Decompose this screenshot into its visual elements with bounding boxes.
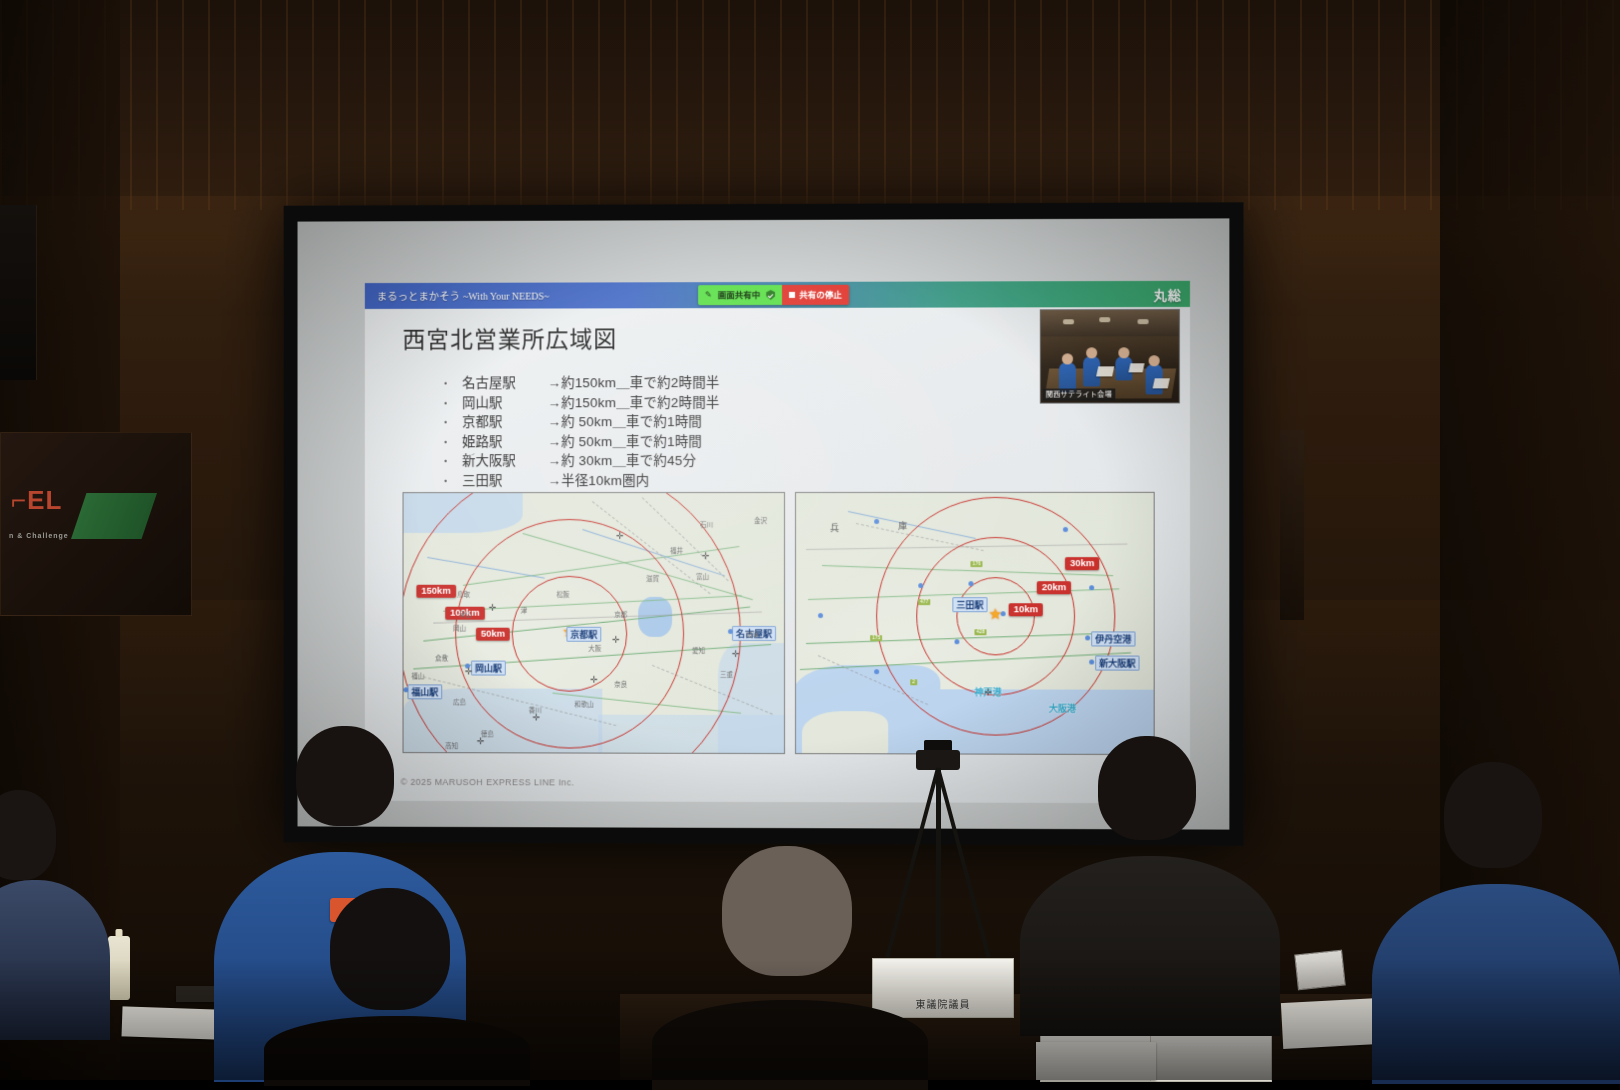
bullet-term: 京都駅 bbox=[462, 413, 547, 431]
bullet-term: 新大阪駅 bbox=[462, 452, 547, 470]
bullet-marker: ・ bbox=[440, 435, 462, 452]
stop-square-icon bbox=[789, 292, 795, 298]
brand-tagline-jp: まるっとまかそう bbox=[377, 290, 460, 302]
poster-logo-icon: ⌐EL bbox=[11, 485, 62, 516]
airport-icon: ✛ bbox=[533, 715, 541, 722]
shoulders-silhouette bbox=[1020, 856, 1280, 1036]
pip-venue-caption: 関西サテライト会場 bbox=[1043, 388, 1115, 400]
pref-label: 福井 bbox=[670, 545, 683, 555]
list-item: ・ 京都駅 →約 50km＿車で約1時間 bbox=[440, 413, 1060, 433]
local-area-map[interactable]: ★ 30km 20km 10km 三田駅 新大阪駅 伊丹空港 神戸港 大阪港 兵… bbox=[795, 492, 1155, 755]
brand-tagline: まるっとまかそう ~With Your NEEDS~ bbox=[377, 288, 550, 303]
pref-label: 愛知 bbox=[692, 645, 705, 655]
bullet-desc: →約 30km＿車で約45分 bbox=[548, 452, 697, 470]
name-placard-text: 東議院議員 bbox=[916, 996, 971, 1011]
airport-icon: ✛ bbox=[612, 637, 620, 644]
station-dot bbox=[1089, 660, 1094, 665]
presentation-slide: まるっとまかそう ~With Your NEEDS~ ✎ 画面共有中 共有の停止… bbox=[365, 281, 1190, 804]
pref-label: 庫 bbox=[898, 519, 907, 532]
pref-label: 岡山 bbox=[453, 623, 466, 633]
map-poi bbox=[918, 583, 923, 588]
poster-subtext: n & Challenge bbox=[9, 533, 69, 540]
bullet-desc: →半径10km圏内 bbox=[548, 472, 650, 490]
airport-icon: ✛ bbox=[985, 689, 993, 696]
tripod-leg bbox=[885, 767, 940, 957]
pref-label: 鳥取 bbox=[457, 589, 470, 599]
ring-label-10km: 10km bbox=[1009, 603, 1044, 616]
pref-label: 津山 bbox=[459, 609, 472, 619]
share-status-badge[interactable]: ✎ 画面共有中 bbox=[698, 285, 782, 305]
shoulders-silhouette bbox=[652, 1000, 928, 1090]
airport-icon: ✛ bbox=[702, 553, 710, 560]
map-poi bbox=[954, 639, 959, 644]
station-tag-okayama: 岡山駅 bbox=[471, 661, 506, 676]
bullet-marker: ・ bbox=[440, 396, 462, 413]
bullet-desc: →約 50km＿車で約1時間 bbox=[548, 433, 703, 451]
map-poi bbox=[874, 669, 879, 674]
station-tag-fukuyama: 福山駅 bbox=[407, 684, 442, 699]
pref-label: 大阪 bbox=[588, 643, 601, 653]
pref-label: 三重 bbox=[720, 669, 733, 679]
port-label-osaka: 大阪港 bbox=[1049, 702, 1076, 715]
distance-bullet-list: ・ 名古屋駅 →約150km＿車で約2時間半 ・ 岡山駅 →約150km＿車で約… bbox=[440, 373, 1060, 510]
list-item: ・ 姫路駅 →約 50km＿車で約1時間 bbox=[440, 432, 1060, 452]
route-badge: 175 bbox=[870, 635, 882, 641]
map-poi bbox=[1089, 585, 1094, 590]
route-badge: 176 bbox=[970, 561, 982, 567]
bullet-marker: ・ bbox=[440, 474, 462, 491]
pref-label: 兵 bbox=[830, 521, 839, 534]
document-papers bbox=[122, 1006, 219, 1039]
map-poi bbox=[968, 581, 973, 586]
airport-icon: ✛ bbox=[465, 669, 472, 676]
pref-label: 奈良 bbox=[614, 679, 627, 689]
ceiling-speaker bbox=[0, 205, 37, 380]
bullet-term: 姫路駅 bbox=[462, 433, 547, 451]
bullet-marker: ・ bbox=[440, 454, 462, 471]
pref-label: 津 bbox=[521, 605, 527, 615]
shoulders-silhouette bbox=[264, 1016, 530, 1086]
list-item: ・ 名古屋駅 →約150km＿車で約2時間半 bbox=[440, 373, 1060, 393]
wide-area-map[interactable]: ★ 150km 100km 50km 京都駅 名古屋駅 岡山駅 福山駅 鳥取 岡… bbox=[403, 492, 785, 754]
pref-label: 富山 bbox=[696, 571, 709, 581]
camera-tripod bbox=[880, 750, 1000, 970]
bullet-marker: ・ bbox=[440, 376, 462, 393]
tripod-leg bbox=[936, 768, 941, 968]
bullet-term: 三田駅 bbox=[462, 472, 547, 489]
ring-label-50km: 50km bbox=[476, 628, 510, 641]
ring-label-20km: 20km bbox=[1037, 581, 1072, 594]
pip-document bbox=[1096, 366, 1114, 376]
pip-ceiling-light bbox=[1099, 317, 1110, 322]
head-silhouette bbox=[1098, 736, 1196, 840]
bullet-term: 名古屋駅 bbox=[462, 374, 547, 392]
slide-header-bar: まるっとまかそう ~With Your NEEDS~ ✎ 画面共有中 共有の停止… bbox=[365, 281, 1190, 309]
head-silhouette bbox=[722, 846, 852, 976]
company-logo: 丸総 bbox=[1154, 285, 1182, 304]
airport-icon: ✛ bbox=[477, 738, 484, 745]
bullet-desc: →約 50km＿車で約1時間 bbox=[548, 413, 703, 431]
head-silhouette bbox=[330, 888, 450, 1010]
map-poi bbox=[1063, 527, 1068, 532]
pref-label: 和歌山 bbox=[574, 699, 593, 709]
pref-label: 松阪 bbox=[557, 589, 570, 599]
station-dot bbox=[1085, 635, 1090, 640]
document-papers bbox=[1036, 1042, 1156, 1080]
water-bottle bbox=[108, 936, 130, 1000]
station-dot bbox=[1001, 611, 1006, 616]
wall-pillar bbox=[1280, 430, 1304, 620]
pref-label: 石川 bbox=[700, 519, 713, 529]
projection-screen: まるっとまかそう ~With Your NEEDS~ ✎ 画面共有中 共有の停止… bbox=[284, 202, 1244, 845]
pref-label: 広島 bbox=[453, 696, 466, 706]
pref-label: 滋賀 bbox=[646, 573, 659, 583]
list-item: ・ 新大阪駅 →約 30km＿車で約45分 bbox=[440, 452, 1060, 472]
tripod-leg bbox=[936, 767, 991, 957]
pref-label: 福山 bbox=[411, 670, 424, 680]
page-title: 西宮北営業所広域図 bbox=[403, 320, 618, 354]
wall-poster: ⌐EL n & Challenge bbox=[0, 432, 192, 616]
stop-sharing-button[interactable]: 共有の停止 bbox=[782, 285, 849, 305]
pref-label: 倉敷 bbox=[435, 653, 448, 663]
stop-sharing-label: 共有の停止 bbox=[799, 289, 842, 301]
pip-document bbox=[1153, 378, 1170, 388]
list-item: ・ 岡山駅 →約150km＿車で約2時間半 bbox=[440, 393, 1060, 413]
pref-label: 岐阜 bbox=[746, 629, 759, 639]
pip-document bbox=[1128, 363, 1144, 372]
share-status-label: 画面共有中 bbox=[718, 289, 760, 301]
bullet-marker: ・ bbox=[440, 415, 462, 432]
airport-icon: ✛ bbox=[616, 533, 624, 540]
station-dot bbox=[728, 629, 733, 634]
pref-label: 京都 bbox=[614, 609, 627, 619]
pip-ceiling bbox=[1041, 310, 1179, 336]
airport-icon: ✛ bbox=[590, 677, 598, 684]
route-badge: 2 bbox=[910, 679, 917, 685]
wall-slat-texture bbox=[0, 0, 1620, 210]
ring-label-150km: 150km bbox=[416, 585, 455, 598]
bullet-term: 岡山駅 bbox=[462, 394, 547, 412]
head-silhouette bbox=[1444, 762, 1542, 868]
list-item: ・ 三田駅 →半径10km圏内 bbox=[440, 471, 1060, 491]
map-poi bbox=[818, 613, 823, 618]
pref-label: 金沢 bbox=[754, 515, 767, 525]
map-poi bbox=[874, 519, 879, 524]
copyright-footer: © 2025 MARUSOH EXPRESS LINE Inc. bbox=[401, 777, 575, 787]
route-badge: 428 bbox=[974, 629, 986, 635]
pencil-icon: ✎ bbox=[705, 291, 712, 299]
airport-icon: ✛ bbox=[732, 651, 740, 658]
airport-icon: ✛ bbox=[489, 605, 496, 612]
poster-green-shape bbox=[71, 493, 157, 539]
bullet-desc: →約150km＿車で約2時間半 bbox=[548, 374, 720, 392]
video-conference-thumbnail[interactable]: 関西サテライト会場 bbox=[1040, 309, 1180, 404]
pref-label: 高知 bbox=[445, 740, 458, 750]
route-badge: 477 bbox=[918, 599, 930, 605]
shoulders-silhouette bbox=[1372, 884, 1620, 1084]
head-silhouette bbox=[296, 726, 394, 826]
screen-share-toolbar[interactable]: ✎ 画面共有中 共有の停止 bbox=[698, 285, 849, 305]
station-tag-kyoto: 京都駅 bbox=[566, 627, 601, 642]
bullet-desc: →約150km＿車で約2時間半 bbox=[548, 394, 720, 412]
awaji-island bbox=[802, 711, 888, 755]
name-placard: 東議院議員 bbox=[872, 958, 1014, 1018]
station-dot bbox=[404, 687, 409, 692]
station-tag-itami-airport: 伊丹空港 bbox=[1091, 631, 1135, 646]
projection-screen-surface: まるっとまかそう ~With Your NEEDS~ ✎ 画面共有中 共有の停止… bbox=[298, 218, 1230, 829]
station-tag-sanda: 三田駅 bbox=[952, 597, 987, 612]
laptop bbox=[1294, 950, 1346, 991]
station-tag-shin-osaka: 新大阪駅 bbox=[1095, 655, 1139, 670]
brand-tagline-en: ~With Your NEEDS~ bbox=[463, 291, 549, 302]
shield-check-icon[interactable] bbox=[766, 290, 775, 300]
pip-ceiling-light bbox=[1138, 319, 1149, 324]
pip-ceiling-light bbox=[1063, 319, 1074, 324]
ring-label-30km: 30km bbox=[1065, 557, 1100, 570]
